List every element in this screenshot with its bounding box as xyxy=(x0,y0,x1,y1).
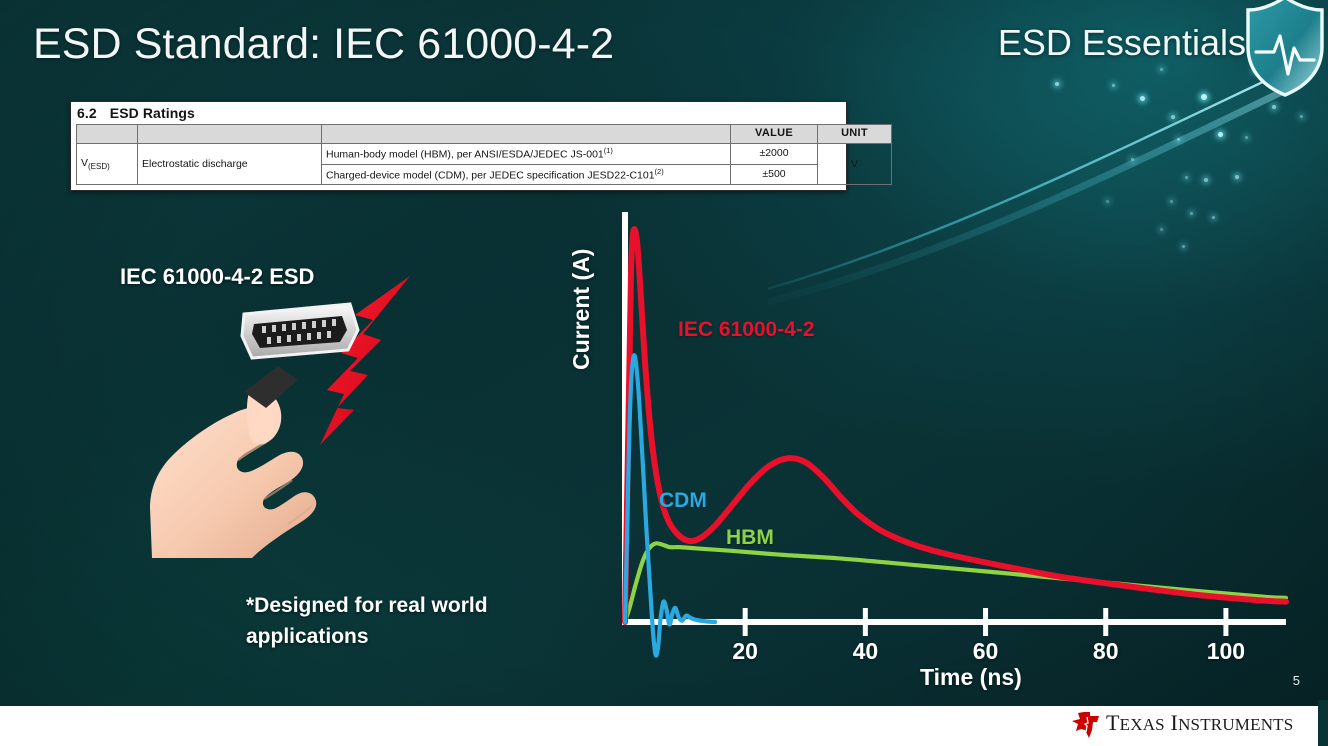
condition-note-hbm: (1) xyxy=(604,146,613,155)
footer-right-edge xyxy=(1318,700,1328,746)
table-header-row: VALUE UNIT xyxy=(77,125,892,144)
esd-ratings-table: 6.2ESD Ratings VALUE UNIT V(ESD) Electro… xyxy=(70,101,847,191)
brand-label: ESD Essentials xyxy=(998,22,1246,64)
series-label-cdm: CDM xyxy=(659,489,707,513)
cell-condition-hbm: Human-body model (HBM), per ANSI/ESDA/JE… xyxy=(322,144,731,165)
chart-x-tick-label: 80 xyxy=(1093,638,1119,665)
symbol-main: V xyxy=(81,157,88,169)
table-header-symbol xyxy=(77,125,138,144)
presentation-slide: ESD Standard: IEC 61000-4-2 ESD Essentia… xyxy=(0,0,1328,746)
condition-text-hbm: Human-body model (HBM), per ANSI/ESDA/JE… xyxy=(326,149,604,161)
table-header-unit: UNIT xyxy=(818,125,892,144)
lightning-bolt-icon xyxy=(320,276,410,445)
chart-x-tick-label: 60 xyxy=(973,638,999,665)
chart-x-tick-label: 40 xyxy=(853,638,879,665)
cell-value-cdm: ±500 xyxy=(731,164,818,185)
table-header-condition xyxy=(322,125,731,144)
cell-symbol: V(ESD) xyxy=(77,144,138,185)
hand-shape xyxy=(150,388,316,558)
note-text: *Designed for real world applications xyxy=(246,590,546,652)
table-header-value: VALUE xyxy=(731,125,818,144)
company-word-two-rest: NSTRUMENTS xyxy=(1178,715,1293,734)
esd-waveform-chart xyxy=(560,200,1328,700)
condition-note-cdm: (2) xyxy=(655,167,664,176)
table-section-number: 6.2 xyxy=(77,105,97,121)
chart-x-tick-label: 20 xyxy=(732,638,758,665)
company-word-one-cap: T xyxy=(1106,710,1120,735)
cell-condition-cdm: Charged-device model (CDM), per JEDEC sp… xyxy=(322,164,731,185)
shield-heartbeat-icon xyxy=(1242,0,1328,100)
table-section-heading: 6.2ESD Ratings xyxy=(71,102,846,124)
cell-unit: V xyxy=(818,144,892,185)
table-row: V(ESD) Electrostatic discharge Human-bod… xyxy=(77,144,892,165)
table-section-title: ESD Ratings xyxy=(110,105,195,121)
company-name: TEXAS INSTRUMENTS xyxy=(1106,710,1293,736)
company-word-two-cap: I xyxy=(1171,710,1179,735)
chart-x-tick-label: 100 xyxy=(1207,638,1245,665)
page-title: ESD Standard: IEC 61000-4-2 xyxy=(33,20,614,69)
page-number: 5 xyxy=(1293,673,1300,688)
hand-holding-hdmi-connector-icon xyxy=(92,258,422,558)
table-header-parameter xyxy=(138,125,322,144)
cell-parameter: Electrostatic discharge xyxy=(138,144,322,185)
series-label-hbm: HBM xyxy=(726,526,774,550)
condition-text-cdm: Charged-device model (CDM), per JEDEC sp… xyxy=(326,169,655,181)
company-word-one-rest: EXAS xyxy=(1120,715,1165,734)
series-line-iec xyxy=(625,229,1286,622)
series-label-iec: IEC 61000-4-2 xyxy=(678,318,815,342)
symbol-subscript: (ESD) xyxy=(88,162,110,171)
cell-value-hbm: ±2000 xyxy=(731,144,818,165)
